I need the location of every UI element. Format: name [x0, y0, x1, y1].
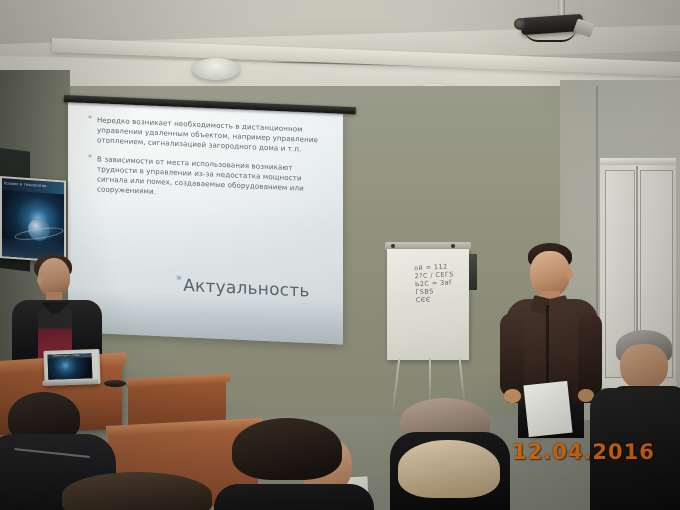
laptop-base — [42, 379, 98, 386]
photograph-classroom-presentation: Космос и технологии * Нередко возникает … — [0, 0, 680, 510]
laptop-screen: Презентация — слайд — [48, 353, 93, 380]
ear — [566, 269, 573, 279]
flipchart-knob — [391, 244, 395, 248]
laptop-titlebar: Презентация — слайд — [48, 353, 92, 359]
ear — [37, 276, 43, 284]
flipchart-knob — [451, 244, 455, 248]
space-poster: Космос и технологии — [0, 176, 66, 263]
slide-bullet: * Нередко возникает необходимость в дист… — [88, 115, 324, 156]
audience-member-foreground — [62, 472, 222, 510]
slide-bullet-text: Нередко возникает необходимость в дистан… — [97, 115, 318, 154]
laptop[interactable]: Презентация — слайд — [43, 349, 96, 387]
hand-left — [504, 389, 521, 403]
slide-bullet-text: В зависимости от места использования воз… — [97, 154, 304, 196]
title-marker-icon: * — [176, 273, 182, 287]
audience-member-blonde — [398, 440, 508, 510]
hair — [398, 440, 500, 498]
bullet-marker-icon: * — [88, 114, 92, 124]
flipchart-note-line: СЄЄ — [416, 294, 464, 305]
desk-object — [104, 380, 126, 387]
flipchart-notes: ой = 112 2?С / СЕГЅ Ь2С = 3аf ГЅВЅ СЄЄ — [414, 262, 464, 304]
poster-artwork — [2, 190, 64, 260]
audience-member-profile — [218, 418, 368, 510]
hair — [232, 418, 342, 480]
ceiling-dome-light — [192, 58, 240, 80]
projection-screen: * Нередко возникает необходимость в дист… — [68, 100, 343, 344]
flipchart-paper: ой = 112 2?С / СЕГЅ Ь2С = 3аf ГЅВЅ СЄЄ — [387, 249, 469, 360]
presenter-right-speaking — [498, 243, 604, 433]
arm-left — [500, 313, 524, 397]
torso — [214, 484, 374, 510]
head — [620, 344, 668, 390]
bullet-marker-icon: * — [88, 153, 92, 163]
arm-right — [578, 313, 602, 397]
flipchart-easel: ой = 112 2?С / СЕГЅ Ь2С = 3аf ГЅВЅ СЄЄ — [385, 242, 471, 360]
door-header-trim — [600, 158, 676, 165]
flipchart-side-object — [469, 254, 477, 290]
laptop-titlebar-text: Презентация — слайд — [53, 354, 80, 359]
hair — [62, 472, 212, 510]
camera-date-stamp: 12.04.2016 — [512, 440, 655, 464]
poster-caption: Космос и технологии — [4, 180, 47, 188]
held-papers — [523, 381, 572, 437]
projector-cable — [524, 28, 576, 42]
slide-content: * Нередко возникает необходимость в дист… — [88, 115, 324, 213]
slide-bullet: * В зависимости от места использования в… — [88, 154, 324, 206]
